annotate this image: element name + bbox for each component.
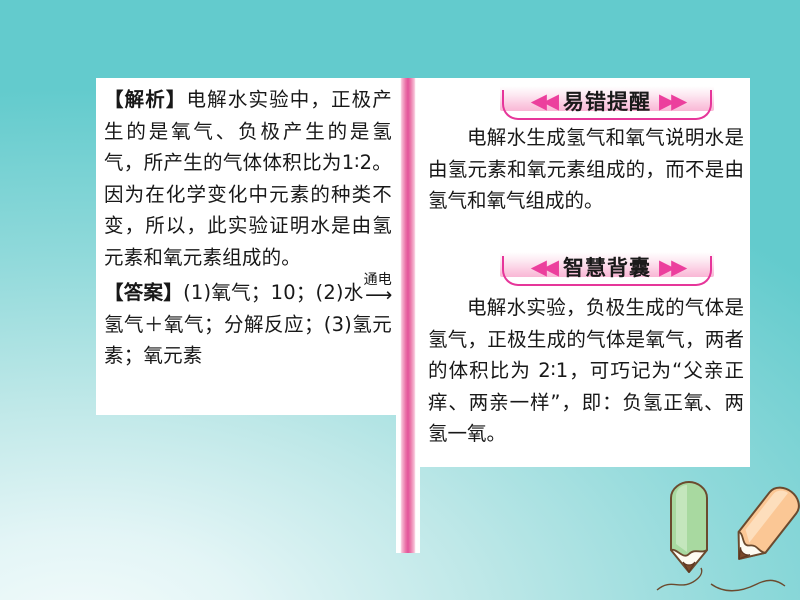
reaction-arrow-icon: ⟶: [364, 286, 392, 304]
section-header-易错提醒: ◀◀ 易错提醒 ▶▶: [500, 86, 714, 120]
analysis-body: 电解水实验中，正极产生的是氧气、负极产生的是氢气，所产生的气体体积比为1∶2。因…: [104, 88, 392, 269]
answer-part-1: (1)氧气；10；(2)水: [183, 281, 364, 304]
vertical-divider: [396, 78, 420, 553]
section-title: 易错提醒: [563, 86, 651, 116]
pencils-decoration: [645, 478, 800, 600]
double-left-arrow-icon: ◀◀: [531, 257, 555, 278]
double-left-arrow-icon: ◀◀: [531, 91, 555, 112]
answer-part-2: 氢气＋氧气；分解反应；: [104, 313, 324, 336]
pencil-green: [671, 482, 707, 572]
tip-body-2: 电解水实验，负极生成的气体是氢气，正极生成的气体是氧气，两者的体积比为 2∶1，…: [428, 292, 744, 450]
double-right-arrow-icon: ▶▶: [659, 91, 683, 112]
section-header-智慧背囊: ◀◀ 智慧背囊 ▶▶: [500, 252, 714, 286]
analysis-text-block: 【解析】电解水实验中，正极产生的是氧气、负极产生的是氢气，所产生的气体体积比为1…: [104, 84, 392, 372]
double-right-arrow-icon: ▶▶: [659, 257, 683, 278]
squiggle-line-left: [657, 568, 702, 590]
analysis-label: 【解析】: [104, 88, 187, 111]
answer-label: 【答案】: [104, 281, 183, 304]
reaction-arrow-group: 通电⟶: [364, 273, 392, 304]
section-title: 智慧背囊: [563, 252, 651, 282]
squiggle-line-right: [711, 580, 785, 590]
slide-canvas: 【解析】电解水实验中，正极产生的是氧气、负极产生的是氢气，所产生的气体体积比为1…: [0, 0, 800, 600]
pencil-orange: [726, 481, 800, 569]
tip-body-1: 电解水生成氢气和氧气说明水是由氢元素和氧元素组成的，而不是由氢气和氧气组成的。: [428, 122, 744, 217]
